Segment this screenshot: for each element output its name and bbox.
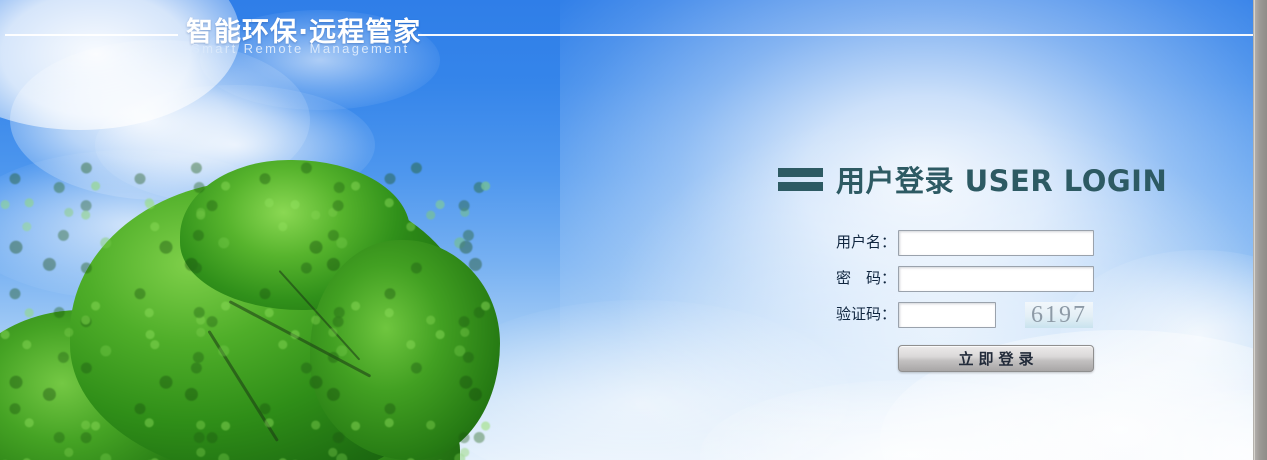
divider-left	[5, 34, 178, 36]
password-label: 密 码：	[836, 266, 898, 286]
login-page: 智能环保·远程管家 Smart Remote Management 用户登录 U…	[0, 0, 1267, 460]
password-input[interactable]	[898, 266, 1094, 292]
captcha-label: 验证码：	[836, 302, 898, 322]
form-row-username: 用户名：	[836, 230, 1178, 256]
vertical-scrollbar[interactable]	[1253, 0, 1267, 460]
scrollbar-thumb[interactable]	[1255, 0, 1267, 460]
tree-leaf-texture	[0, 150, 500, 460]
form-row-captcha: 验证码： 6197	[836, 302, 1178, 328]
divider-right	[418, 34, 1253, 36]
captcha-input[interactable]	[898, 302, 996, 328]
form-row-password: 密 码：	[836, 266, 1178, 292]
login-form: 用户名： 密 码： 验证码： 6197 立即登录	[836, 230, 1178, 372]
site-subtitle: Smart Remote Management	[191, 41, 410, 56]
captcha-image[interactable]: 6197	[1025, 302, 1093, 328]
login-heading-text: 用户登录 USER LOGIN	[836, 158, 1167, 200]
username-label: 用户名：	[836, 230, 898, 250]
login-heading: 用户登录 USER LOGIN	[778, 158, 1178, 200]
login-panel: 用户登录 USER LOGIN 用户名： 密 码： 验证码： 6197 立即登录	[778, 158, 1178, 372]
submit-row: 立即登录	[898, 345, 1178, 372]
login-button[interactable]: 立即登录	[898, 345, 1094, 372]
two-bars-icon	[778, 168, 823, 191]
page-header: 智能环保·远程管家 Smart Remote Management	[0, 0, 1253, 62]
username-input[interactable]	[898, 230, 1094, 256]
tree-illustration	[0, 150, 500, 460]
